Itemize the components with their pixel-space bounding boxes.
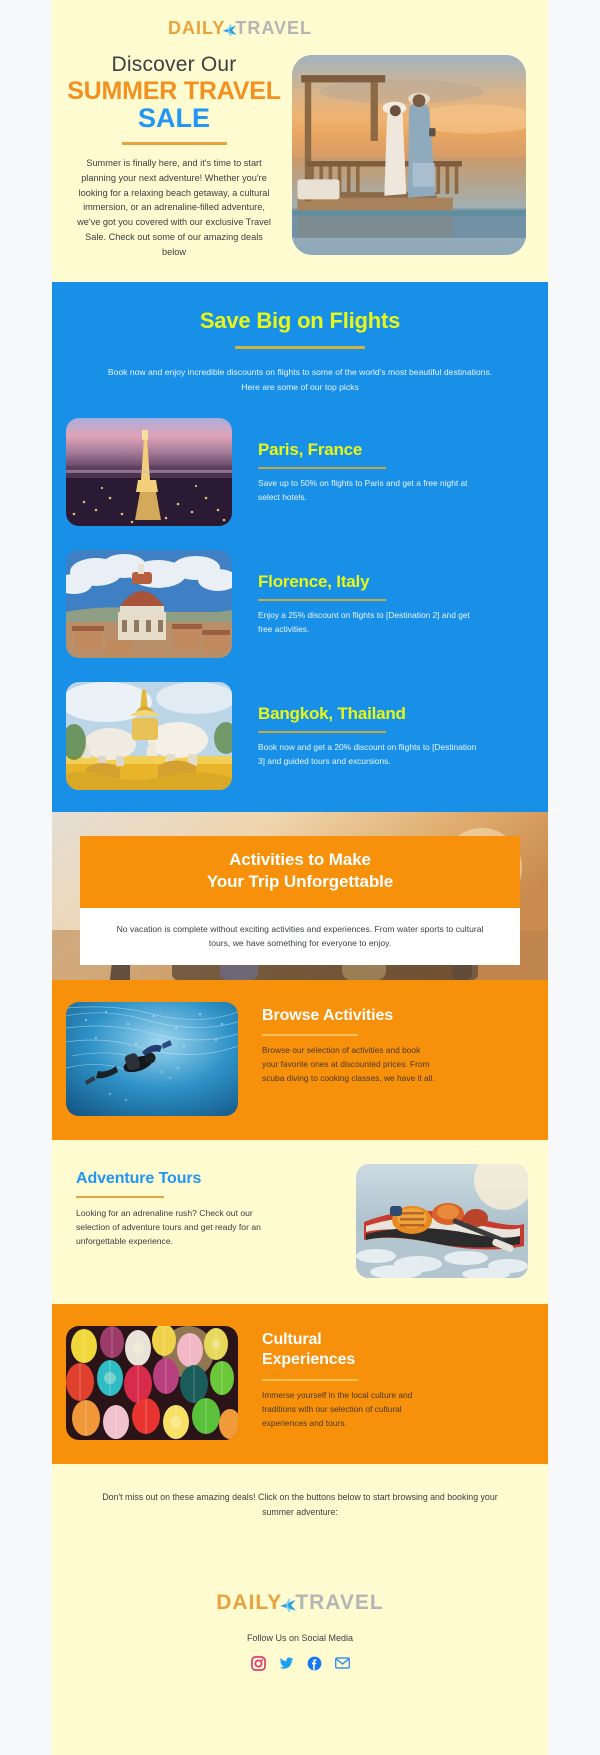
footer-logo-travel-text: TRAVEL [295,1591,383,1615]
adventure-tours-image [356,1164,528,1278]
destination-text: Florence, Italy Enjoy a 25% discount on … [232,550,522,636]
twitter-icon[interactable] [279,1656,294,1671]
flights-intro: Book now and enjoy incredible discounts … [52,365,548,394]
browse-activities-divider [262,1034,358,1036]
flights-divider [235,346,365,349]
activities-hero-title-line2: Your Trip Unforgettable [90,871,510,893]
adventure-tours-image-wrap [292,1164,528,1278]
footer-logo[interactable]: DAILY TRAVEL [52,1591,548,1615]
instagram-icon[interactable] [251,1656,266,1671]
destination-divider [258,467,386,469]
footer-follow-label: Follow Us on Social Media [52,1633,548,1643]
flights-title: Save Big on Flights [52,308,548,334]
destination-card[interactable]: Paris, France Save up to 50% on flights … [52,418,548,526]
adventure-tours-text: Adventure Tours Looking for an adrenalin… [76,1164,292,1249]
destination-name: Paris, France [258,440,522,460]
email-icon[interactable] [335,1656,350,1671]
adventure-tours-divider [76,1196,164,1198]
logo-daily-text: DAILY [168,18,225,39]
browse-activities-section: Browse Activities Browse our selection o… [52,980,548,1140]
hero-paragraph: Summer is finally here, and it's time to… [66,156,282,260]
logo-travel-text: TRAVEL [235,18,312,39]
airplane-icon [278,1596,298,1613]
destination-image-florence [66,550,232,658]
destination-description: Book now and get a 20% discount on fligh… [258,741,482,768]
destination-text: Paris, France Save up to 50% on flights … [232,418,522,504]
browse-activities-text: Browse Activities Browse our selection o… [238,1002,528,1086]
destination-divider [258,599,386,601]
browse-activities-paragraph: Browse our selection of activities and b… [262,1044,438,1086]
destination-description: Enjoy a 25% discount on flights to [Dest… [258,609,482,636]
destination-name: Bangkok, Thailand [258,704,522,724]
hero-divider [122,142,227,145]
cultural-experiences-image [66,1326,238,1440]
hero-title-line2: SALE [66,104,282,132]
destination-card[interactable]: Florence, Italy Enjoy a 25% discount on … [52,550,548,658]
cultural-experiences-section: Cultural Experiences Immerse yourself in… [52,1304,548,1464]
browse-activities-heading: Browse Activities [262,1006,528,1026]
hero-image-column [292,53,548,260]
flights-section: Save Big on Flights Book now and enjoy i… [52,282,548,812]
destination-divider [258,731,386,733]
browse-activities-image [66,1002,238,1116]
cultural-experiences-divider [262,1379,358,1381]
cultural-experiences-heading-line2: Experiences [262,1350,528,1370]
hero-text-column: Discover Our SUMMER TRAVEL SALE Summer i… [52,53,292,260]
hero-eyebrow: Discover Our [66,53,282,77]
hero-title-line1: SUMMER TRAVEL [66,78,282,104]
adventure-tours-heading: Adventure Tours [76,1170,292,1188]
cultural-experiences-paragraph: Immerse yourself in the local culture an… [262,1389,438,1431]
destination-name: Florence, Italy [258,572,522,592]
destination-text: Bangkok, Thailand Book now and get a 20%… [232,682,522,768]
activities-hero-section: Activities to Make Your Trip Unforgettab… [52,812,548,980]
adventure-tours-paragraph: Looking for an adrenaline rush? Check ou… [76,1207,262,1249]
hero-section: DAILY TRAVEL Discover Our SUMMER TRAVEL … [52,0,548,282]
activities-hero-band: Activities to Make Your Trip Unforgettab… [80,836,520,908]
email-body: DAILY TRAVEL Discover Our SUMMER TRAVEL … [52,0,548,1755]
adventure-tours-section: Adventure Tours Looking for an adrenalin… [52,1140,548,1304]
airplane-icon [221,22,238,37]
destination-card[interactable]: Bangkok, Thailand Book now and get a 20%… [52,682,548,790]
facebook-icon[interactable] [307,1656,322,1671]
activities-hero-title-line1: Activities to Make [90,849,510,871]
hero-image [292,55,526,255]
cultural-experiences-text: Cultural Experiences Immerse yourself in… [238,1326,528,1431]
activities-hero-paragraph: No vacation is complete without exciting… [80,908,520,966]
destination-image-bangkok [66,682,232,790]
destination-image-paris [66,418,232,526]
footer-cta-text: Don't miss out on these amazing deals! C… [52,1490,548,1519]
email-newsletter-page: DAILY TRAVEL Discover Our SUMMER TRAVEL … [0,0,600,1755]
activities-hero-overlay: Activities to Make Your Trip Unforgettab… [80,836,520,965]
hero-content: Discover Our SUMMER TRAVEL SALE Summer i… [52,53,548,260]
footer-section: Don't miss out on these amazing deals! C… [52,1464,548,1713]
cultural-experiences-heading-line1: Cultural [262,1330,528,1350]
header-logo[interactable]: DAILY TRAVEL [0,18,548,39]
footer-logo-daily-text: DAILY [216,1591,282,1615]
destination-description: Save up to 50% on flights to Paris and g… [258,477,482,504]
social-links [52,1656,548,1671]
